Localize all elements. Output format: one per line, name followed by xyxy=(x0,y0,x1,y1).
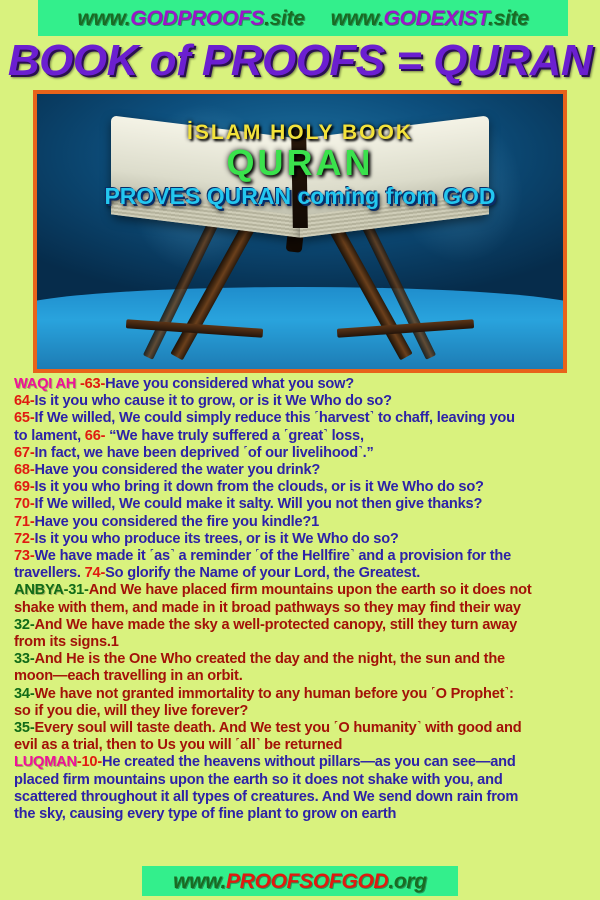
verse-line: 65-If We willed, We could simply reduce … xyxy=(14,410,592,427)
verse-text: shake with them, and made in it broad pa… xyxy=(14,600,521,616)
url-tld: .site xyxy=(264,7,305,30)
verse-text: We have not granted immortality to any h… xyxy=(35,686,514,702)
verse-number: 72- xyxy=(14,531,35,547)
verse-text: from its signs.1 xyxy=(14,634,119,650)
verse-number: 34- xyxy=(14,686,35,702)
verse-text: to lament, xyxy=(14,428,81,444)
verse-line: 69-Is it you who bring it down from the … xyxy=(14,479,592,496)
verse-text: Is it you who cause it to grow, or is it… xyxy=(35,393,392,409)
surah-name: WAQI AH xyxy=(14,376,76,392)
verse-text: so if you die, will they live forever? xyxy=(14,703,248,719)
verse-line: LUQMAN-10-He created the heavens without… xyxy=(14,754,592,771)
verse-text: If We willed, We could make it salty. Wi… xyxy=(35,496,483,512)
verse-line: 64-Is it you who cause it to grow, or is… xyxy=(14,393,592,410)
url-domain: PROOFSOFGOD xyxy=(226,870,388,893)
page-title: BOOK of PROOFS = QURAN xyxy=(0,36,600,86)
verse-number-secondary: 66- xyxy=(81,428,105,444)
verse-number: 73- xyxy=(14,548,35,564)
url-tld: .org xyxy=(388,870,426,893)
verse-line: ANBYA-31-And We have placed firm mountai… xyxy=(14,582,592,599)
verse-line: from its signs.1 xyxy=(14,634,592,651)
verse-number: 35- xyxy=(14,720,35,736)
verse-number: -31- xyxy=(64,582,89,598)
verse-number: 68- xyxy=(14,462,35,478)
verse-text: And We have placed firm mountains upon t… xyxy=(89,582,532,598)
verse-text: Have you considered the fire you kindle?… xyxy=(35,514,320,530)
verse-line: shake with them, and made in it broad pa… xyxy=(14,600,592,617)
banner-line-1: İSLAM HOLY BOOK xyxy=(37,122,563,143)
verse-line: so if you die, will they live forever? xyxy=(14,703,592,720)
verse-number: 69- xyxy=(14,479,35,495)
verse-line: 73-We have made it ˹as˺ a reminder ˹of t… xyxy=(14,548,592,565)
verse-line: placed firm mountains upon the earth so … xyxy=(14,772,592,789)
verse-line: 72-Is it you who produce its trees, or i… xyxy=(14,531,592,548)
url-tld: .site xyxy=(488,7,529,30)
verse-text: Have you considered what you sow? xyxy=(105,376,354,392)
verse-number: 70- xyxy=(14,496,35,512)
verse-line: the sky, causing every type of fine plan… xyxy=(14,806,592,823)
url-prefix: www. xyxy=(331,7,384,30)
photo-floor xyxy=(33,287,567,370)
verse-text: Have you considered the water you drink? xyxy=(35,462,321,478)
url-domain: GODPROOFS xyxy=(130,7,264,30)
verse-line: 70-If We willed, We could make it salty.… xyxy=(14,496,592,513)
verse-text: We have made it ˹as˺ a reminder ˹of the … xyxy=(35,548,512,564)
footer-url-band: www.PROOFSOFGOD.org xyxy=(142,866,458,896)
verse-line: evil as a trial, then to Us you will ˹al… xyxy=(14,737,592,754)
banner-line-3: PROVES QURAN coming from GOD xyxy=(37,185,563,208)
site-link-proofsofgod[interactable]: www.PROOFSOFGOD.org xyxy=(173,871,427,892)
verse-text: If We willed, We could simply reduce thi… xyxy=(35,410,515,426)
surah-name: LUQMAN xyxy=(14,754,77,770)
verse-text-secondary: So glorify the Name of your Lord, the Gr… xyxy=(105,565,420,581)
verse-line: 68-Have you considered the water you dri… xyxy=(14,462,592,479)
verse-number: 71- xyxy=(14,514,35,530)
banner-line-2: QURAN xyxy=(37,145,563,181)
verse-number: 32- xyxy=(14,617,35,633)
verse-number-secondary: 74- xyxy=(81,565,105,581)
verse-line: 33-And He is the One Who created the day… xyxy=(14,651,592,668)
verse-line: to lament, 66- “We have truly suffered a… xyxy=(14,428,592,445)
verse-text: Every soul will taste death. And We test… xyxy=(35,720,522,736)
verse-text: travellers. xyxy=(14,565,81,581)
verse-text: Is it you who bring it down from the clo… xyxy=(35,479,484,495)
url-domain: GODEXIST xyxy=(383,7,488,30)
verse-line: 35-Every soul will taste death. And We t… xyxy=(14,720,592,737)
verse-text: He created the heavens without pillars—a… xyxy=(102,754,516,770)
verse-number: -10- xyxy=(77,754,102,770)
verse-text: scattered throughout it all types of cre… xyxy=(14,789,518,805)
verse-line: 34-We have not granted immortality to an… xyxy=(14,686,592,703)
verse-number: 64- xyxy=(14,393,35,409)
site-link-godexist[interactable]: www.GODEXIST.site xyxy=(331,8,529,29)
verse-line: 67-In fact, we have been deprived ˹of ou… xyxy=(14,445,592,462)
verse-text: placed firm mountains upon the earth so … xyxy=(14,772,503,788)
top-url-band: www.GODPROOFS.site www.GODEXIST.site xyxy=(38,0,568,36)
verse-line: travellers. 74-So glorify the Name of yo… xyxy=(14,565,592,582)
verse-text: Is it you who produce its trees, or is i… xyxy=(35,531,399,547)
verse-line: 71-Have you considered the fire you kind… xyxy=(14,514,592,531)
site-link-godproofs[interactable]: www.GODPROOFS.site xyxy=(77,8,304,29)
verse-text: evil as a trial, then to Us you will ˹al… xyxy=(14,737,342,753)
verse-number: -63- xyxy=(76,376,105,392)
verse-text-secondary: “We have truly suffered a ˹great˺ loss, xyxy=(105,428,364,444)
verse-text: And He is the One Who created the day an… xyxy=(35,651,505,667)
quran-photo: İSLAM HOLY BOOK QURAN PROVES QURAN comin… xyxy=(33,90,567,373)
verse-number: 67- xyxy=(14,445,35,461)
verse-list: WAQI AH -63-Have you considered what you… xyxy=(14,376,592,823)
verse-text: moon—each travelling in an orbit. xyxy=(14,668,243,684)
verse-text: And We have made the sky a well-protecte… xyxy=(35,617,518,633)
verse-line: moon—each travelling in an orbit. xyxy=(14,668,592,685)
url-prefix: www. xyxy=(173,870,226,893)
verse-text: In fact, we have been deprived ˹of our l… xyxy=(35,445,374,461)
verse-line: scattered throughout it all types of cre… xyxy=(14,789,592,806)
banner-overlay: İSLAM HOLY BOOK QURAN PROVES QURAN comin… xyxy=(37,122,563,208)
verse-line: WAQI AH -63-Have you considered what you… xyxy=(14,376,592,393)
url-prefix: www. xyxy=(77,7,130,30)
verse-number: 33- xyxy=(14,651,35,667)
verse-line: 32-And We have made the sky a well-prote… xyxy=(14,617,592,634)
verse-text: the sky, causing every type of fine plan… xyxy=(14,806,396,822)
surah-name: ANBYA xyxy=(14,582,64,598)
verse-number: 65- xyxy=(14,410,35,426)
